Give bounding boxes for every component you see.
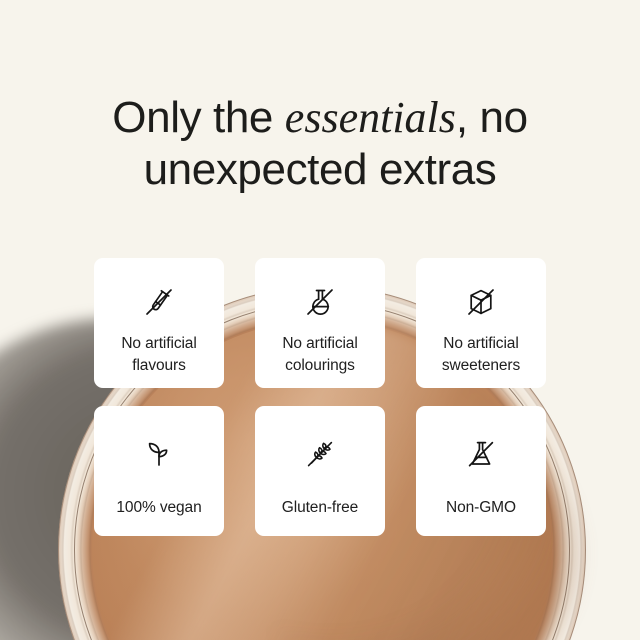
claim-card-label: Gluten-free xyxy=(276,497,364,519)
page-title: Only the essentials, no unexpected extra… xyxy=(0,92,640,196)
claim-card-label: No artificialcolourings xyxy=(276,333,363,377)
vegan-sprout-icon xyxy=(137,433,181,475)
no-artificial-sweeteners-icon xyxy=(459,281,503,323)
claim-card-label: 100% vegan xyxy=(110,497,207,519)
claim-label-line1: No artificial xyxy=(443,335,518,352)
claim-card-vegan[interactable]: 100% vegan xyxy=(94,406,224,536)
product-claims-graphic: Only the essentials, no unexpected extra… xyxy=(0,0,640,640)
no-artificial-colourings-icon xyxy=(298,281,342,323)
claim-label-line2: colourings xyxy=(285,357,355,374)
no-artificial-flavours-icon xyxy=(137,281,181,323)
overlay-content: Only the essentials, no unexpected extra… xyxy=(0,0,640,640)
claim-label-line2: flavours xyxy=(132,357,185,374)
claim-card-gluten-free[interactable]: Gluten-free xyxy=(255,406,385,536)
claim-card-no-artificial-flavours[interactable]: No artificialflavours xyxy=(94,258,224,388)
claim-card-no-artificial-colourings[interactable]: No artificialcolourings xyxy=(255,258,385,388)
claim-card-label: No artificialsweeteners xyxy=(436,333,526,377)
claim-card-label: No artificialflavours xyxy=(115,333,202,377)
headline-part-1: Only the xyxy=(112,93,285,142)
non-gmo-icon xyxy=(459,433,503,475)
claim-card-label: Non-GMO xyxy=(440,497,522,519)
claim-card-non-gmo[interactable]: Non-GMO xyxy=(416,406,546,536)
gluten-free-icon xyxy=(298,433,342,475)
claim-label-line1: No artificial xyxy=(121,335,196,352)
claim-label-line1: No artificial xyxy=(282,335,357,352)
claim-label-line2: sweeteners xyxy=(442,357,520,374)
claim-card-no-artificial-sweeteners[interactable]: No artificialsweeteners xyxy=(416,258,546,388)
headline-emphasis: essentials xyxy=(285,93,456,142)
claim-badge-grid: No artificialflavours No artificialcolou… xyxy=(94,258,546,536)
